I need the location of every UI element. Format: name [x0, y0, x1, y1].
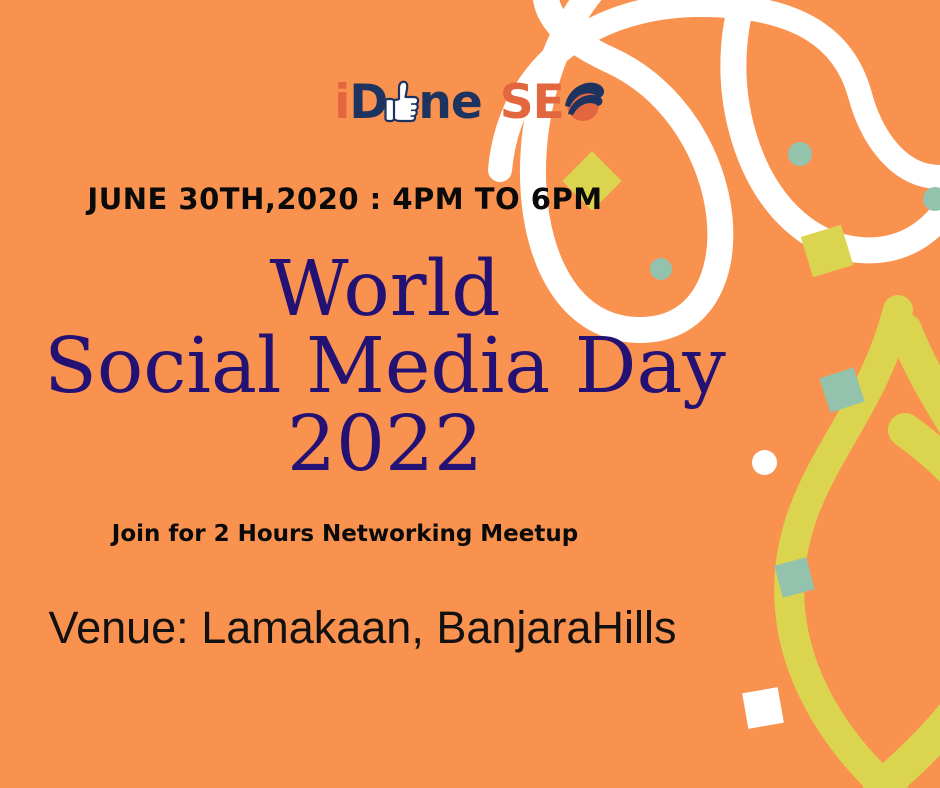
confetti-square-white: [742, 687, 784, 729]
logo-letters-se: SE: [500, 79, 564, 126]
logo-letter-i: i: [334, 79, 349, 126]
page-title: World Social Media Day 2022: [0, 252, 940, 482]
brand-logo[interactable]: i D ne SE: [0, 72, 940, 132]
logo-letters-ne: ne: [418, 79, 481, 126]
headline-line-2: Social Media Day: [0, 329, 770, 404]
globe-icon: [562, 79, 606, 125]
logo-letter-d: D: [349, 79, 387, 126]
confetti-circle-sage: [788, 142, 812, 166]
headline-line-3: 2022: [0, 407, 770, 482]
thumbs-up-icon: [384, 78, 420, 126]
confetti-square-sage: [774, 557, 814, 597]
event-venue: Venue: Lamakaan, BanjaraHills: [0, 602, 940, 654]
headline-line-1: World: [0, 252, 770, 327]
poster-canvas: i D ne SE: [0, 0, 940, 788]
event-subtitle: Join for 2 Hours Networking Meetup: [0, 521, 940, 547]
event-date-time: JUNE 30TH,2020 : 4PM TO 6PM: [0, 182, 940, 216]
